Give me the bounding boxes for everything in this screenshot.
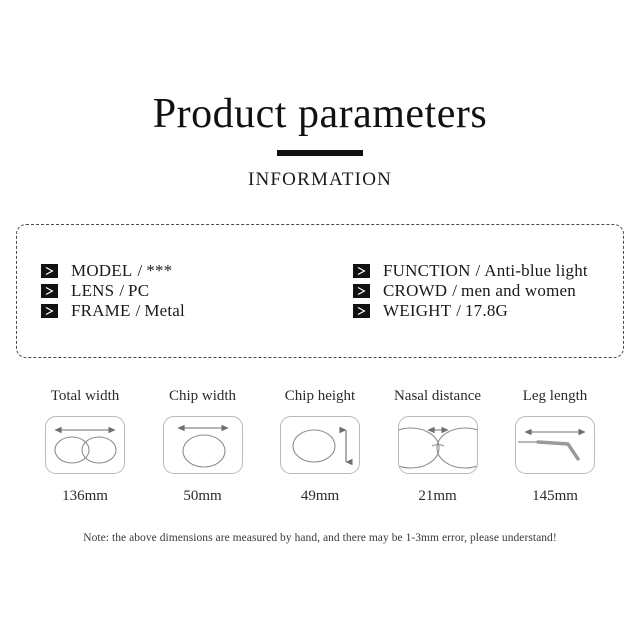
dimension-label-nasal-distance: Nasal distance xyxy=(383,388,493,405)
bridge-gap-arrow-icon xyxy=(398,416,478,474)
dimension-card-leg-length: Leg length 145mm xyxy=(500,388,610,505)
chevron-right-bullet-icon xyxy=(353,264,370,278)
dimension-card-chip-width: Chip width 50mm xyxy=(148,388,258,505)
spec-item-crowd: CROWD / men and women xyxy=(353,281,623,301)
title-divider-rule xyxy=(277,150,363,156)
two-lens-horizontal-arrow-icon xyxy=(45,416,125,474)
spec-item-model: MODEL / *** xyxy=(41,261,347,281)
spec-item-lens: LENS / PC xyxy=(41,281,347,301)
spec-value-lens: PC xyxy=(128,281,149,301)
spec-separator: / xyxy=(451,301,465,321)
spec-value-function: Anti-blue light xyxy=(484,261,588,281)
page-subtitle: INFORMATION xyxy=(0,169,640,191)
spec-separator: / xyxy=(131,301,145,321)
chevron-right-bullet-icon xyxy=(41,284,58,298)
spec-item-function: FUNCTION / Anti-blue light xyxy=(353,261,623,281)
dimension-value-chip-width: 50mm xyxy=(148,488,258,505)
spec-value-model: *** xyxy=(146,261,172,281)
dimension-label-total-width: Total width xyxy=(30,388,140,405)
single-lens-horizontal-arrow-icon xyxy=(163,416,243,474)
chevron-right-bullet-icon xyxy=(353,304,370,318)
dimension-value-total-width: 136mm xyxy=(30,488,140,505)
dimension-label-chip-width: Chip width xyxy=(148,388,258,405)
chevron-right-bullet-icon xyxy=(41,304,58,318)
dimension-value-chip-height: 49mm xyxy=(265,488,375,505)
spec-label-model: MODEL xyxy=(71,261,132,281)
specs-grid: MODEL / *** LENS / PC FRAME / Metal xyxy=(17,225,623,357)
spec-label-weight: WEIGHT xyxy=(383,301,451,321)
spec-label-lens: LENS xyxy=(71,281,114,301)
spec-separator: / xyxy=(114,281,128,301)
spec-separator: / xyxy=(132,261,146,281)
dimension-card-chip-height: Chip height 49mm xyxy=(265,388,375,505)
page-title: Product parameters xyxy=(0,92,640,136)
dimension-label-leg-length: Leg length xyxy=(500,388,610,405)
temple-arm-horizontal-arrow-icon xyxy=(515,416,595,474)
spec-value-frame: Metal xyxy=(144,301,185,321)
spec-value-weight: 17.8G xyxy=(465,301,508,321)
dimension-value-nasal-distance: 21mm xyxy=(383,488,493,505)
measurement-note: Note: the above dimensions are measured … xyxy=(0,532,640,544)
spec-separator: / xyxy=(447,281,461,301)
specs-dashed-panel: MODEL / *** LENS / PC FRAME / Metal xyxy=(16,224,624,358)
dimension-card-total-width: Total width 136mm xyxy=(30,388,140,505)
spec-label-frame: FRAME xyxy=(71,301,131,321)
spec-item-frame: FRAME / Metal xyxy=(41,301,347,321)
dimension-value-leg-length: 145mm xyxy=(500,488,610,505)
spec-separator: / xyxy=(471,261,485,281)
chevron-right-bullet-icon xyxy=(353,284,370,298)
spec-label-crowd: CROWD xyxy=(383,281,447,301)
single-lens-vertical-arrow-icon xyxy=(280,416,360,474)
dimension-cards-row: Total width 136mm Chip width xyxy=(30,388,610,505)
dimension-card-nasal-distance: Nasal distance 21mm xyxy=(383,388,493,505)
chevron-right-bullet-icon xyxy=(41,264,58,278)
spec-item-weight: WEIGHT / 17.8G xyxy=(353,301,623,321)
spec-label-function: FUNCTION xyxy=(383,261,471,281)
page-header: Product parameters INFORMATION xyxy=(0,0,640,191)
specs-column-right: FUNCTION / Anti-blue light CROWD / men a… xyxy=(347,261,623,321)
specs-column-left: MODEL / *** LENS / PC FRAME / Metal xyxy=(17,261,347,321)
spec-value-crowd: men and women xyxy=(461,281,576,301)
dimension-label-chip-height: Chip height xyxy=(265,388,375,405)
